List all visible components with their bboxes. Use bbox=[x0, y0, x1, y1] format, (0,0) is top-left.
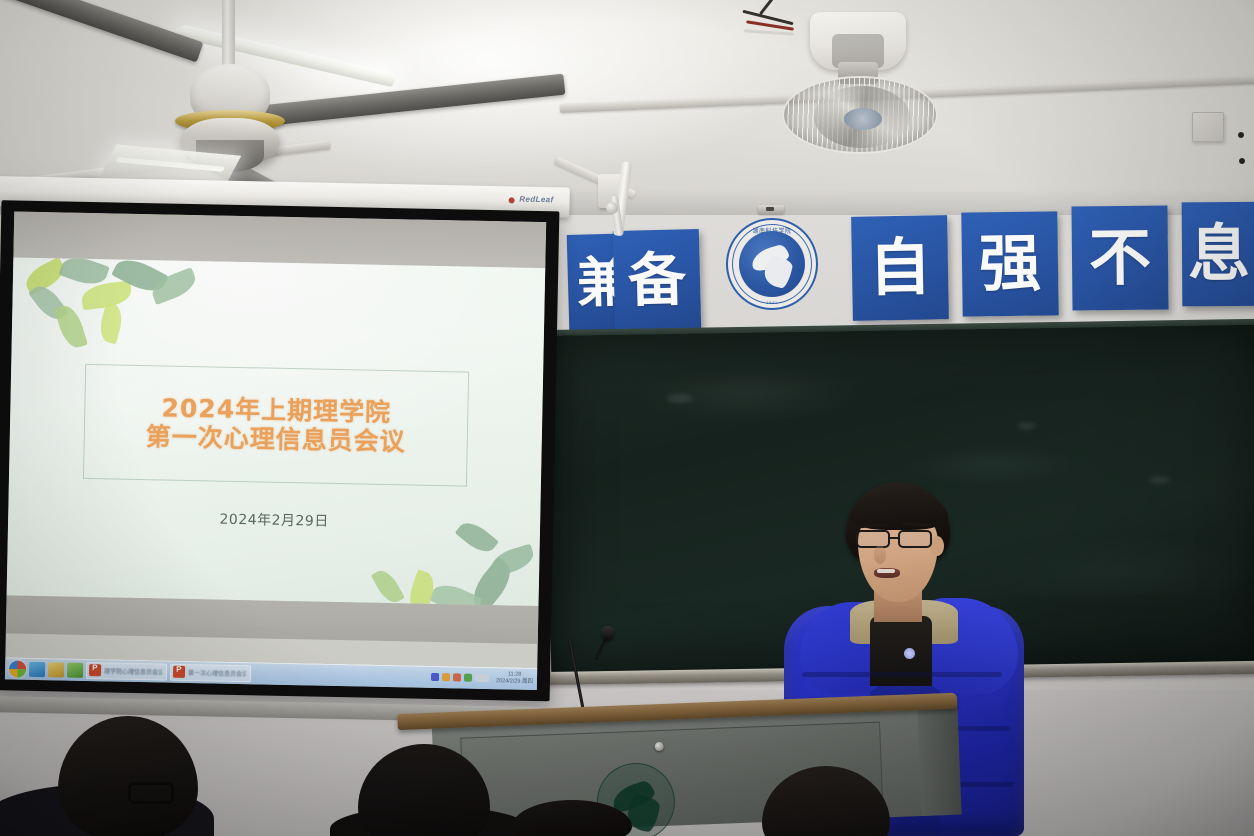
windows-taskbar[interactable]: 理学院心理信息员会议.ppt 第一次心理信息员会议.pptx bbox=[5, 657, 537, 690]
jacket-brand-logo-icon bbox=[904, 648, 915, 659]
tray-shield-icon[interactable] bbox=[431, 673, 439, 681]
photo-scene: 兼 备 自 强 不 息 湖南科技学院 1941 bbox=[0, 0, 1254, 836]
jacket-seam bbox=[802, 672, 1002, 677]
presenter-nose bbox=[874, 546, 886, 564]
taskbar-item-powerpoint-2[interactable]: 第一次心理信息员会议.pptx bbox=[170, 663, 251, 682]
screen-bezel: 2024年上期理学院 第一次心理信息员会议 2024年2月29日 理学院心理信息… bbox=[0, 200, 559, 701]
wall-screw bbox=[1238, 132, 1244, 138]
banner-sign-bu: 不 bbox=[1071, 206, 1168, 311]
school-logo-icon: 湖南科技学院 1941 bbox=[726, 218, 818, 310]
banner-sign-char: 备 bbox=[627, 250, 686, 309]
audience-glasses-icon bbox=[128, 782, 174, 804]
tray-speaker-icon[interactable] bbox=[453, 673, 461, 681]
taskbar-item-powerpoint-1[interactable]: 理学院心理信息员会议.ppt bbox=[86, 661, 167, 680]
screen-brand-label: RedLeaf bbox=[519, 195, 554, 205]
powerpoint-icon bbox=[173, 666, 185, 678]
presenter-mouth bbox=[874, 568, 900, 578]
wall-switch-box[interactable] bbox=[1192, 112, 1224, 142]
lens-right bbox=[898, 530, 932, 548]
start-button-icon[interactable] bbox=[9, 660, 26, 677]
banner-sign-xi: 息 bbox=[1182, 202, 1254, 307]
mic-head bbox=[601, 626, 614, 641]
taskbar-item-label: 第一次心理信息员会议.pptx bbox=[188, 668, 246, 678]
fan-blade bbox=[255, 74, 565, 127]
leaf-decoration-icon bbox=[371, 566, 405, 606]
motion-sensor-icon bbox=[758, 205, 784, 214]
ie-icon[interactable] bbox=[29, 661, 45, 676]
slide-title-line-1: 2024年上期理学院 bbox=[161, 394, 391, 427]
media-player-icon[interactable] bbox=[67, 662, 83, 677]
taskbar-spacer bbox=[254, 673, 428, 676]
slide-date: 2024年2月29日 bbox=[8, 504, 540, 535]
banner-sign-qiang: 强 bbox=[961, 211, 1058, 316]
glasses-icon bbox=[854, 530, 944, 550]
glasses-bridge bbox=[890, 537, 900, 539]
clock-date: 2024/2/29 周四 bbox=[496, 678, 533, 686]
taskbar-item-label: 理学院心理信息员会议.ppt bbox=[104, 666, 162, 676]
screen-surface: 2024年上期理学院 第一次心理信息员会议 2024年2月29日 理学院心理信息… bbox=[5, 211, 546, 690]
banner-sign-char: 不 bbox=[1089, 227, 1152, 290]
wall-screw bbox=[1239, 158, 1245, 164]
bracket-knob bbox=[606, 202, 618, 214]
logo-bird-mark-icon bbox=[739, 231, 805, 297]
presentation-slide: 2024年上期理学院 第一次心理信息员会议 2024年2月29日 bbox=[7, 257, 546, 606]
leaf-decoration-icon bbox=[488, 544, 536, 578]
taskbar-clock[interactable]: 11:28 2024/2/29 周四 bbox=[492, 671, 533, 686]
banner-sign-char: 强 bbox=[979, 233, 1042, 296]
system-tray[interactable] bbox=[431, 673, 489, 682]
screen-mount-bracket bbox=[556, 140, 666, 236]
banner-sign-bei: 备 bbox=[613, 229, 701, 331]
banner-sign-char: 自 bbox=[868, 236, 931, 299]
fan-cage bbox=[782, 76, 938, 154]
tray-warning-icon[interactable] bbox=[442, 673, 450, 681]
oscillating-fan-icon bbox=[760, 0, 960, 164]
tray-network-icon[interactable] bbox=[464, 674, 472, 682]
banner-sign-zi: 自 bbox=[851, 215, 949, 321]
powerpoint-icon bbox=[89, 664, 101, 676]
podium-side-panel bbox=[917, 707, 961, 816]
lens-left bbox=[856, 530, 890, 548]
projector-screen: RedLeaf bbox=[0, 176, 570, 717]
fan-center-cap bbox=[844, 108, 882, 130]
slide-title-frame: 2024年上期理学院 第一次心理信息员会议 bbox=[83, 364, 468, 487]
tray-input-icon[interactable] bbox=[475, 674, 489, 682]
explorer-icon[interactable] bbox=[48, 662, 64, 677]
slide-title-line-2: 第一次心理信息员会议 bbox=[145, 423, 406, 456]
banner-sign-char: 息 bbox=[1188, 223, 1250, 285]
